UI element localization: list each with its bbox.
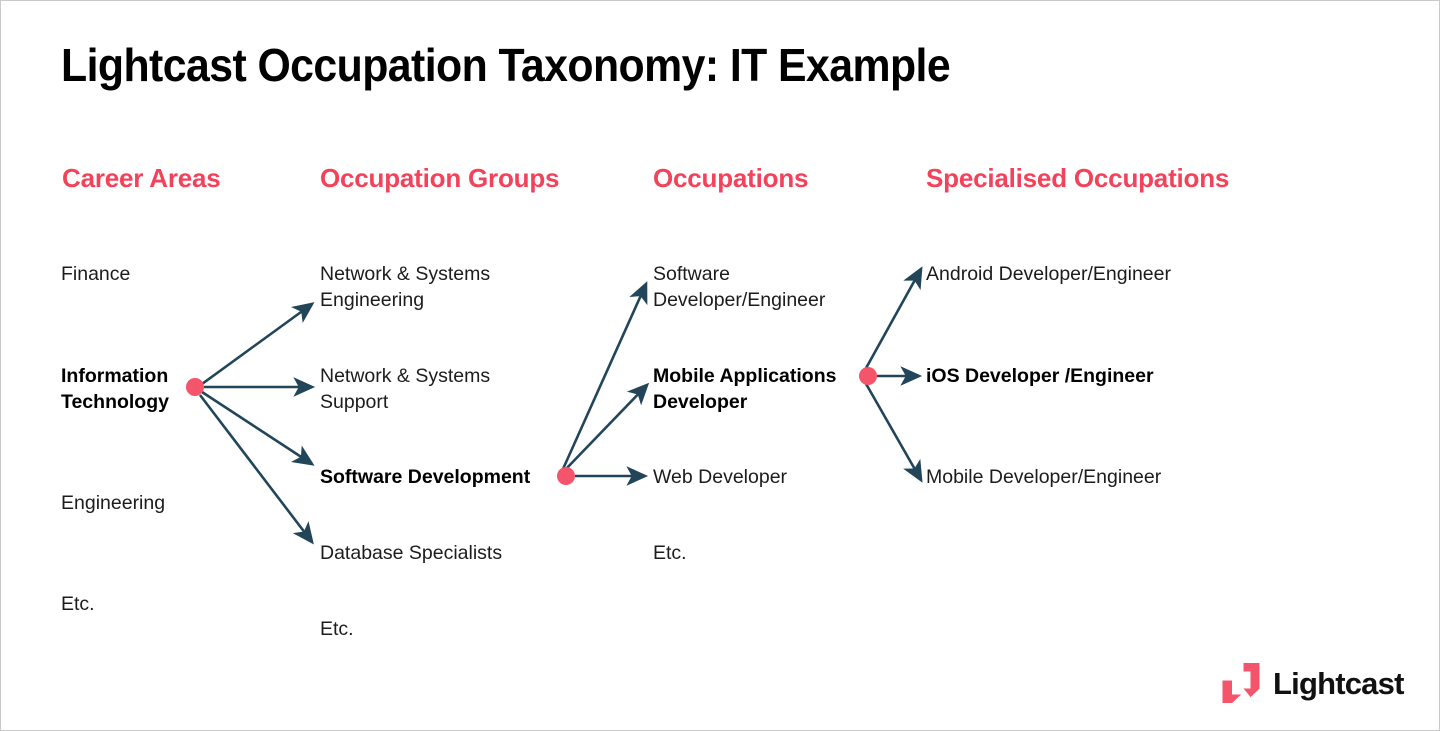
node-finance[interactable]: Finance bbox=[61, 261, 130, 287]
node-network-systems-support[interactable]: Network & Systems Support bbox=[320, 363, 490, 415]
connector-it-to-software-development bbox=[202, 392, 312, 464]
lightcast-mark-icon bbox=[1219, 663, 1263, 703]
node-information-technology[interactable]: Information Technology bbox=[61, 363, 169, 415]
node-network-systems-engineering[interactable]: Network & Systems Engineering bbox=[320, 261, 490, 313]
column-header-occupation-groups: Occupation Groups bbox=[320, 163, 559, 193]
column-header-career-areas: Career Areas bbox=[62, 163, 221, 193]
lightcast-logo: Lightcast bbox=[1219, 663, 1404, 703]
connector-it-to-database-specialists bbox=[200, 395, 312, 542]
node-engineering[interactable]: Engineering bbox=[61, 490, 165, 516]
connector-swdev-to-software-developer bbox=[563, 284, 646, 469]
connector-it-to-network-engineering bbox=[202, 304, 312, 384]
page-title: Lightcast Occupation Taxonomy: IT Exampl… bbox=[61, 37, 950, 93]
node-software-developer-engineer[interactable]: Software Developer/Engineer bbox=[653, 261, 825, 313]
node-occupation-groups-etc: Etc. bbox=[320, 616, 354, 642]
node-dot-mobile-applications-developer bbox=[859, 367, 877, 385]
connector-mobile-to-android-developer bbox=[865, 269, 921, 370]
node-occupations-etc: Etc. bbox=[653, 540, 687, 566]
connector-swdev-to-mobile-apps-developer bbox=[565, 385, 647, 470]
node-career-areas-etc: Etc. bbox=[61, 591, 95, 617]
node-software-development[interactable]: Software Development bbox=[320, 464, 530, 490]
node-android-developer-engineer[interactable]: Android Developer/Engineer bbox=[926, 261, 1171, 287]
node-ios-developer-engineer[interactable]: iOS Developer /Engineer bbox=[926, 363, 1154, 389]
node-mobile-applications-developer[interactable]: Mobile Applications Developer bbox=[653, 363, 836, 415]
column-header-specialised-occupations: Specialised Occupations bbox=[926, 163, 1229, 193]
node-dot-software-development bbox=[557, 467, 575, 485]
node-database-specialists[interactable]: Database Specialists bbox=[320, 540, 502, 566]
node-dot-information-technology bbox=[186, 378, 204, 396]
connector-mobile-to-mobile-developer bbox=[865, 382, 921, 480]
column-header-occupations: Occupations bbox=[653, 163, 808, 193]
node-mobile-developer-engineer[interactable]: Mobile Developer/Engineer bbox=[926, 464, 1161, 490]
node-web-developer[interactable]: Web Developer bbox=[653, 464, 787, 490]
slide-canvas: Lightcast Occupation Taxonomy: IT Exampl… bbox=[0, 0, 1440, 731]
lightcast-wordmark: Lightcast bbox=[1273, 668, 1404, 699]
